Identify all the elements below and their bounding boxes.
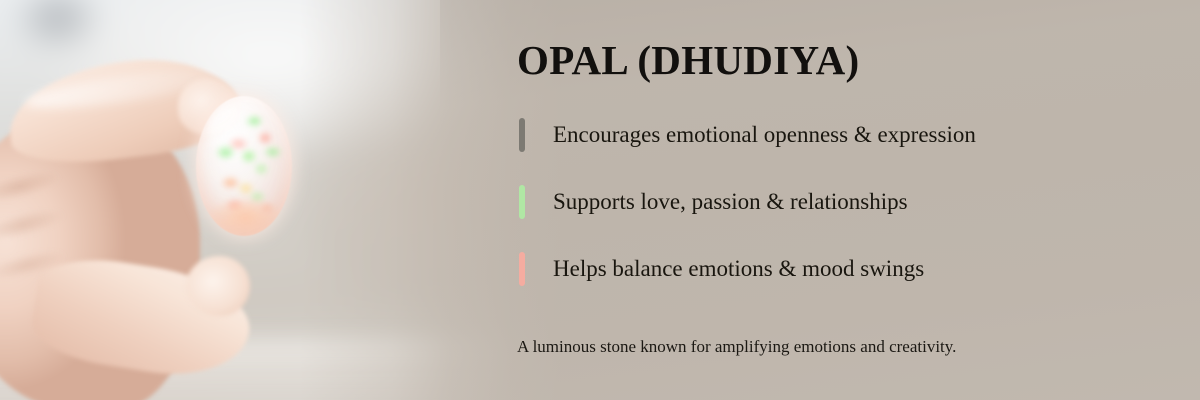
- benefit-label: Encourages emotional openness & expressi…: [553, 122, 976, 148]
- opal-gemstone: [196, 96, 292, 236]
- thumb-tip: [186, 256, 250, 316]
- benefit-label: Helps balance emotions & mood swings: [553, 256, 924, 282]
- list-item: Supports love, passion & relationships: [519, 185, 1119, 219]
- opal-highlight: [208, 107, 258, 155]
- accent-bar-green: [519, 185, 525, 219]
- list-item: Encourages emotional openness & expressi…: [519, 118, 1119, 152]
- list-item: Helps balance emotions & mood swings: [519, 252, 1119, 286]
- page-title: OPAL (DHUDIYA): [517, 38, 859, 83]
- accent-bar-gray: [519, 118, 525, 152]
- accent-bar-salmon: [519, 252, 525, 286]
- benefit-label: Supports love, passion & relationships: [553, 189, 908, 215]
- description-caption: A luminous stone known for amplifying em…: [517, 336, 956, 358]
- gemstone-info-banner: OPAL (DHUDIYA) Encourages emotional open…: [0, 0, 1200, 400]
- info-panel: OPAL (DHUDIYA) Encourages emotional open…: [517, 0, 1157, 400]
- benefits-list: Encourages emotional openness & expressi…: [519, 118, 1119, 319]
